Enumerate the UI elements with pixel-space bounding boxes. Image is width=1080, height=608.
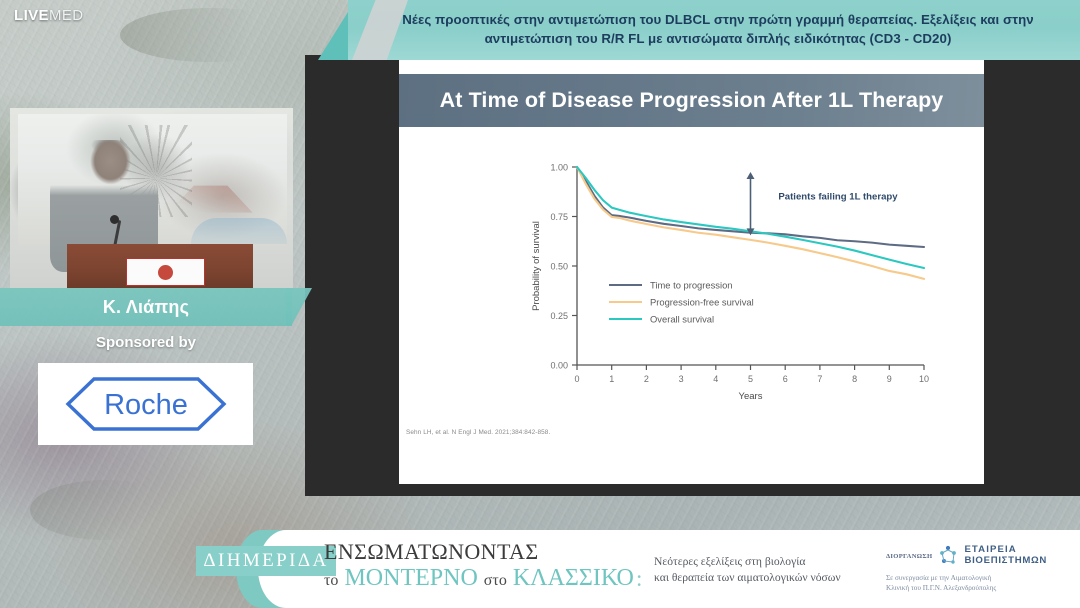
svg-text:Probability of survival: Probability of survival	[531, 221, 542, 311]
footer-subtitle-line1: Νεότερες εξελίξεις στη βιολογία	[654, 554, 884, 570]
thumbnail-stage-banner	[191, 218, 287, 244]
footer-organizer-name2: ΒΙΟΕΠΙΣΤΗΜΩΝ	[964, 556, 1047, 567]
survival-chart-svg: 0.000.250.500.751.00012345678910YearsPro…	[399, 145, 984, 445]
speaker-name-band: Κ. Λιάπης	[0, 288, 292, 326]
svg-text:2: 2	[644, 374, 649, 384]
roche-wordmark: Roche	[104, 389, 188, 421]
slide-title-bar: At Time of Disease Progression After 1L …	[399, 74, 984, 127]
footer-main-title: ΕΝΣΩΜΑΤΩΝΟΝΤΑΣ το ΜΟΝΤΕΡΝΟ στο ΚΛΑΣΣΙΚΟ	[324, 540, 654, 592]
presentation-slide: At Time of Disease Progression After 1L …	[399, 55, 984, 484]
svg-text:1: 1	[609, 374, 614, 384]
footer-organizer-name: ΕΤΑΙΡΕΙΑ ΒΙΟΕΠΙΣΤΗΜΩΝ	[964, 545, 1047, 566]
svg-text:9: 9	[887, 374, 892, 384]
svg-text:0: 0	[574, 374, 579, 384]
slide-citation: Sehn LH, et al. N Engl J Med. 2021;384:8…	[406, 429, 550, 436]
svg-text:1.00: 1.00	[550, 163, 568, 173]
svg-text:0.00: 0.00	[550, 361, 568, 371]
svg-text:6: 6	[783, 374, 788, 384]
livemed-logo: LIVEMED	[14, 7, 84, 24]
speaker-video-thumbnail[interactable]	[10, 108, 293, 288]
roche-logo-svg: Roche	[64, 375, 228, 433]
livemed-logo-live: LIVE	[14, 7, 49, 24]
footer-subtitle-line2: και θεραπεία των αιματολογικών νόσων	[654, 570, 884, 586]
footer-title-to: το	[324, 572, 338, 589]
footer-organizer-label: ΔΙΟΡΓΑΝΩΣΗ	[886, 553, 932, 560]
footer-organizer-note2: Κλινική του Π.Γ.Ν. Αλεξανδρούπολης	[886, 583, 1072, 593]
svg-text:10: 10	[919, 374, 929, 384]
footer-title-line1: ΕΝΣΩΜΑΤΩΝΟΝΤΑΣ	[324, 540, 654, 565]
chart-legend: Time to progressionProgression-free surv…	[609, 280, 754, 325]
header-title-band: Νέες προοπτικές στην αντιμετώπιση του DL…	[348, 0, 1080, 60]
footer-organizer-note1: Σε συνεργασία με την Αιματολογική	[886, 573, 1072, 583]
footer-colon: :	[636, 566, 642, 592]
screen-root: LIVEMED Νέες προοπτικές στην αντιμετώπισ…	[0, 0, 1080, 608]
footer-event-tag-label: ΔΙΗΜΕΡΙΔΑ	[203, 550, 328, 572]
footer-banner: ΔΙΗΜΕΡΙΔΑ ΕΝΣΩΜΑΤΩΝΟΝΤΑΣ το ΜΟΝΤΕΡΝΟ στο…	[0, 530, 1080, 608]
roche-logo: Roche	[64, 375, 228, 433]
svg-text:0.75: 0.75	[550, 212, 568, 222]
footer-organizer: ΔΙΟΡΓΑΝΩΣΗ ΕΤΑΙΡΕΙΑ ΒΙΟΕΠΙΣΤΗΜΩΝ Σε συνε…	[886, 544, 1072, 593]
livemed-logo-med: MED	[49, 7, 84, 24]
podium	[67, 244, 254, 288]
svg-text:0.25: 0.25	[550, 311, 568, 321]
footer-organizer-row: ΔΙΟΡΓΑΝΩΣΗ ΕΤΑΙΡΕΙΑ ΒΙΟΕΠΙΣΤΗΜΩΝ	[886, 544, 1072, 568]
footer-organizer-note: Σε συνεργασία με την Αιματολογική Κλινικ…	[886, 573, 1072, 593]
footer-subtitle: Νεότερες εξελίξεις στη βιολογία και θερα…	[654, 554, 884, 587]
svg-text:Patients failing 1L therapy: Patients failing 1L therapy	[778, 192, 898, 203]
svg-text:4: 4	[713, 374, 718, 384]
svg-text:Time to progression: Time to progression	[650, 280, 733, 291]
survival-chart: 0.000.250.500.751.00012345678910YearsPro…	[399, 145, 984, 445]
footer-title-moderno: ΜΟΝΤΕΡΝΟ	[344, 565, 477, 591]
organization-seal-icon	[158, 265, 173, 280]
svg-text:3: 3	[679, 374, 684, 384]
chart-annotation: Patients failing 1L therapy	[747, 172, 899, 235]
bioscience-society-icon	[937, 544, 959, 568]
svg-text:8: 8	[852, 374, 857, 384]
header-title: Νέες προοπτικές στην αντιμετώπιση του DL…	[370, 10, 1066, 49]
slide-title: At Time of Disease Progression After 1L …	[440, 88, 944, 113]
svg-text:7: 7	[817, 374, 822, 384]
svg-text:0.50: 0.50	[550, 262, 568, 272]
svg-text:5: 5	[748, 374, 753, 384]
speaker-name: Κ. Λιάπης	[103, 297, 189, 318]
footer-event-tag: ΔΙΗΜΕΡΙΔΑ	[196, 546, 336, 576]
svg-text:Overall survival: Overall survival	[650, 314, 714, 325]
podium-placard	[126, 258, 204, 286]
svg-text:Progression-free survival: Progression-free survival	[650, 297, 754, 308]
footer-title-sto: στο	[484, 572, 507, 589]
footer-title-line2: το ΜΟΝΤΕΡΝΟ στο ΚΛΑΣΣΙΚΟ	[324, 565, 654, 592]
sponsored-by-label: Sponsored by	[0, 334, 292, 351]
twig-decoration	[120, 8, 300, 62]
svg-text:Years: Years	[739, 391, 763, 402]
footer-title-klassiko: ΚΛΑΣΣΙΚΟ	[513, 565, 634, 591]
sponsor-logo-card: Roche	[38, 363, 253, 445]
